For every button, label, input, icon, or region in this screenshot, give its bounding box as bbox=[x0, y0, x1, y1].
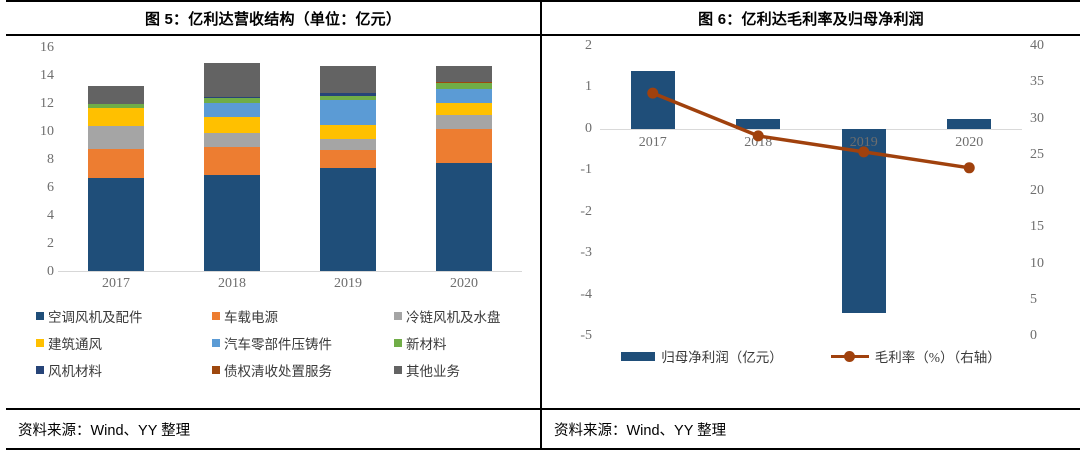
bar-segment[interactable] bbox=[204, 117, 260, 134]
bar-segment[interactable] bbox=[204, 175, 260, 272]
legend-item-gross-margin: 毛利率（%）（右轴） bbox=[831, 346, 1001, 366]
legend-item-风机材料[interactable]: 风机材料 bbox=[36, 360, 212, 380]
left-chart-x-tick: 2017 bbox=[88, 276, 144, 292]
legend-swatch-icon bbox=[394, 312, 402, 320]
page-title-figure-6: 图 6：亿利达毛利率及归母净利润 bbox=[698, 8, 924, 29]
legend-label-gross-margin: 毛利率（%）（右轴） bbox=[875, 346, 1001, 366]
bar-segment[interactable] bbox=[436, 115, 492, 129]
left-chart-x-tick: 2020 bbox=[436, 276, 492, 292]
line-marker[interactable] bbox=[647, 88, 658, 99]
right-chart-right-y-tick: 10 bbox=[1030, 256, 1044, 272]
figure-pair-container: 图 5：亿利达营收结构（单位：亿元） 0246810121416 2017201… bbox=[0, 0, 1080, 450]
legend-item-汽车零部件压铸件[interactable]: 汽车零部件压铸件 bbox=[212, 333, 394, 353]
page-title-figure-5: 图 5：亿利达营收结构（单位：亿元） bbox=[145, 8, 401, 29]
right-chart-right-y-tick: 5 bbox=[1030, 292, 1037, 308]
figure-5-source-text: 资料来源：Wind、YY 整理 bbox=[18, 419, 190, 440]
bar-segment[interactable] bbox=[204, 133, 260, 147]
right-chart-left-y-tick: 2 bbox=[585, 38, 592, 54]
left-chart-legend-row: 建筑通风汽车零部件压铸件新材料 bbox=[36, 333, 530, 353]
figure-6-title-bar: 图 6：亿利达毛利率及归母净利润 bbox=[542, 0, 1080, 36]
bar-segment[interactable] bbox=[88, 149, 144, 178]
legend-label: 其他业务 bbox=[406, 360, 460, 380]
legend-swatch-line-marker-icon bbox=[831, 349, 869, 363]
legend-item-车载电源[interactable]: 车载电源 bbox=[212, 306, 394, 326]
left-chart-y-tick: 0 bbox=[47, 264, 54, 280]
combo-bar-line-chart: 210-1-2-3-4-5 4035302520151050 201720182… bbox=[542, 36, 1080, 408]
left-chart-y-tick: 8 bbox=[47, 152, 54, 168]
left-chart-legend-row: 空调风机及配件车载电源冷链风机及水盘 bbox=[36, 306, 530, 326]
left-chart-plot-area bbox=[58, 48, 522, 272]
right-chart-right-y-tick: 30 bbox=[1030, 111, 1044, 127]
legend-item-空调风机及配件[interactable]: 空调风机及配件 bbox=[36, 306, 212, 326]
bar-segment[interactable] bbox=[320, 168, 376, 272]
line-path bbox=[653, 93, 970, 168]
right-chart-right-y-tick: 20 bbox=[1030, 183, 1044, 199]
bar-segment[interactable] bbox=[320, 125, 376, 139]
legend-swatch-icon bbox=[394, 366, 402, 374]
right-chart-right-y-tick: 25 bbox=[1030, 147, 1044, 163]
left-chart-legend: 空调风机及配件车载电源冷链风机及水盘建筑通风汽车零部件压铸件新材料风机材料债权清… bbox=[36, 306, 530, 387]
legend-label: 风机材料 bbox=[48, 360, 102, 380]
left-chart-bar-2017[interactable] bbox=[88, 86, 144, 272]
legend-label-net-profit: 归母净利润（亿元） bbox=[661, 346, 783, 366]
legend-swatch-icon bbox=[212, 366, 220, 374]
figure-5-panel: 图 5：亿利达营收结构（单位：亿元） 0246810121416 2017201… bbox=[0, 0, 540, 450]
left-chart-x-tick: 2018 bbox=[204, 276, 260, 292]
right-chart-left-y-tick: -1 bbox=[580, 162, 592, 178]
figure-6-source-text: 资料来源：Wind、YY 整理 bbox=[554, 419, 726, 440]
right-chart-right-y-tick: 15 bbox=[1030, 219, 1044, 235]
left-chart-x-tick: 2019 bbox=[320, 276, 376, 292]
legend-label: 空调风机及配件 bbox=[48, 306, 143, 326]
bar-segment[interactable] bbox=[320, 150, 376, 168]
line-marker[interactable] bbox=[858, 146, 869, 157]
legend-item-债权清收处置服务[interactable]: 债权清收处置服务 bbox=[212, 360, 394, 380]
legend-swatch-icon bbox=[212, 312, 220, 320]
legend-label: 债权清收处置服务 bbox=[224, 360, 332, 380]
legend-label: 冷链风机及水盘 bbox=[406, 306, 501, 326]
legend-item-建筑通风[interactable]: 建筑通风 bbox=[36, 333, 212, 353]
legend-item-新材料[interactable]: 新材料 bbox=[394, 333, 447, 353]
figure-6-source: 资料来源：Wind、YY 整理 bbox=[542, 408, 1080, 450]
bar-segment[interactable] bbox=[436, 163, 492, 272]
left-chart-y-tick: 2 bbox=[47, 236, 54, 252]
gross-margin-line bbox=[600, 46, 1022, 336]
left-chart-y-axis: 0246810121416 bbox=[20, 48, 54, 272]
legend-label: 建筑通风 bbox=[48, 333, 102, 353]
legend-item-冷链风机及水盘[interactable]: 冷链风机及水盘 bbox=[394, 306, 501, 326]
legend-item-其他业务[interactable]: 其他业务 bbox=[394, 360, 460, 380]
left-chart-bar-2018[interactable] bbox=[204, 63, 260, 272]
right-chart-right-y-axis: 4035302520151050 bbox=[1030, 46, 1064, 336]
figure-5-title-bar: 图 5：亿利达营收结构（单位：亿元） bbox=[6, 0, 540, 36]
left-chart-y-tick: 12 bbox=[40, 96, 54, 112]
left-chart-bar-2019[interactable] bbox=[320, 66, 376, 272]
right-chart-legend: 归母净利润（亿元） 毛利率（%）（右轴） bbox=[542, 346, 1080, 366]
bar-segment[interactable] bbox=[204, 103, 260, 117]
bar-segment[interactable] bbox=[88, 178, 144, 272]
figure-5-plot-wrap: 0246810121416 2017201820192020 空调风机及配件车载… bbox=[6, 36, 540, 408]
left-chart-bars bbox=[58, 48, 522, 272]
bar-segment[interactable] bbox=[320, 66, 376, 93]
bar-segment[interactable] bbox=[320, 100, 376, 125]
legend-swatch-icon bbox=[36, 339, 44, 347]
right-chart-right-y-tick: 0 bbox=[1030, 328, 1037, 344]
legend-swatch-icon bbox=[394, 339, 402, 347]
figure-6-panel: 图 6：亿利达毛利率及归母净利润 210-1-2-3-4-5 403530252… bbox=[540, 0, 1080, 450]
line-marker[interactable] bbox=[964, 162, 975, 173]
legend-swatch-icon bbox=[212, 339, 220, 347]
right-chart-plot-area: 2017201820192020 bbox=[600, 46, 1022, 336]
left-chart-x-axis: 2017201820192020 bbox=[58, 276, 522, 292]
right-chart-left-y-tick: 0 bbox=[585, 121, 592, 137]
right-chart-left-y-tick: -5 bbox=[580, 328, 592, 344]
legend-label: 汽车零部件压铸件 bbox=[224, 333, 332, 353]
legend-swatch-icon bbox=[36, 366, 44, 374]
right-chart-left-y-tick: 1 bbox=[585, 79, 592, 95]
legend-label: 车载电源 bbox=[224, 306, 278, 326]
bar-segment[interactable] bbox=[320, 139, 376, 150]
bar-segment[interactable] bbox=[436, 129, 492, 163]
bar-segment[interactable] bbox=[88, 126, 144, 148]
left-chart-baseline bbox=[58, 271, 522, 272]
bar-segment[interactable] bbox=[204, 147, 260, 175]
right-chart-left-y-tick: -4 bbox=[580, 287, 592, 303]
legend-swatch-icon bbox=[36, 312, 44, 320]
legend-label: 新材料 bbox=[406, 333, 447, 353]
bar-segment[interactable] bbox=[436, 89, 492, 103]
bar-segment[interactable] bbox=[436, 66, 492, 81]
left-chart-bar-2020[interactable] bbox=[436, 66, 492, 272]
right-chart-left-y-axis: 210-1-2-3-4-5 bbox=[558, 46, 592, 336]
figure-5-source: 资料来源：Wind、YY 整理 bbox=[6, 408, 540, 450]
right-chart-left-y-tick: -2 bbox=[580, 204, 592, 220]
bar-segment[interactable] bbox=[88, 108, 144, 126]
stacked-bar-chart: 0246810121416 2017201820192020 空调风机及配件车载… bbox=[6, 36, 540, 408]
left-chart-legend-row: 风机材料债权清收处置服务其他业务 bbox=[36, 360, 530, 380]
left-chart-y-tick: 10 bbox=[40, 124, 54, 140]
bar-segment[interactable] bbox=[436, 103, 492, 116]
left-chart-y-tick: 6 bbox=[47, 180, 54, 196]
legend-swatch-bar-icon bbox=[621, 352, 655, 361]
left-chart-y-tick: 14 bbox=[40, 68, 54, 84]
figure-6-plot-wrap: 210-1-2-3-4-5 4035302520151050 201720182… bbox=[542, 36, 1080, 408]
left-chart-y-tick: 16 bbox=[40, 40, 54, 56]
right-chart-right-y-tick: 40 bbox=[1030, 38, 1044, 54]
bar-segment[interactable] bbox=[88, 86, 144, 104]
left-chart-y-tick: 4 bbox=[47, 208, 54, 224]
bar-segment[interactable] bbox=[204, 63, 260, 97]
right-chart-left-y-tick: -3 bbox=[580, 245, 592, 261]
right-chart-right-y-tick: 35 bbox=[1030, 74, 1044, 90]
legend-item-net-profit: 归母净利润（亿元） bbox=[621, 346, 783, 366]
line-marker[interactable] bbox=[753, 130, 764, 141]
